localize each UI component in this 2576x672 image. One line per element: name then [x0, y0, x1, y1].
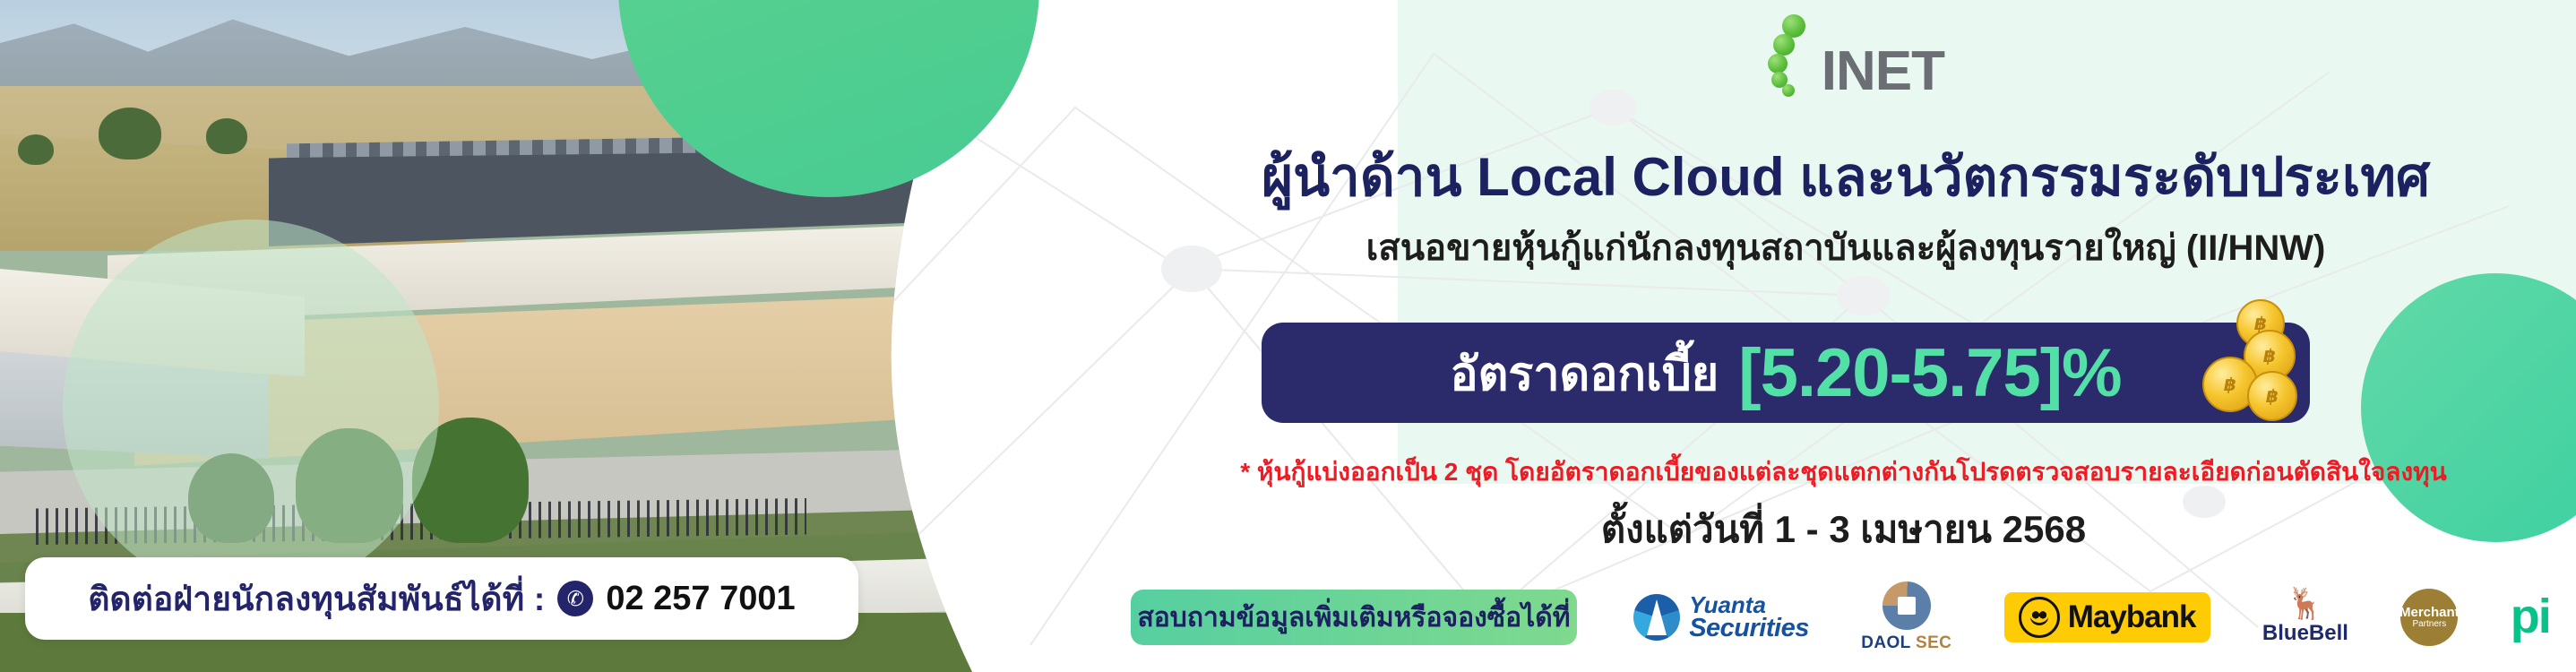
daol-line2: SEC	[1916, 633, 1951, 652]
maybank-tiger-head-icon	[2019, 597, 2060, 638]
pi-wordmark-icon: pi	[2511, 598, 2550, 636]
inet-helix-dots-icon	[1766, 14, 1813, 97]
disclaimer-text: * หุ้นกู้แบ่งออกเป็น 2 ชุด โดยอัตราดอกเบ…	[1111, 452, 2576, 492]
page-title: ผู้นำด้าน Local Cloud และนวัตกรรมระดับปร…	[1156, 134, 2536, 220]
gold-coin-stack-icon: ฿ ฿ ฿ ฿	[2197, 299, 2305, 434]
partner-logo-pi[interactable]: pi	[2511, 598, 2550, 636]
daol-line1: DAOL	[1861, 633, 1910, 652]
interest-rate-label: อัตราดอกเบี้ย	[1450, 336, 1719, 410]
partner-logo-bluebell[interactable]: 🦌 BlueBell	[2262, 589, 2348, 646]
contact-phone-number[interactable]: 02 257 7001	[606, 580, 795, 618]
partner-logo-maybank[interactable]: Maybank	[2004, 592, 2210, 642]
merchant-line2: Partners	[2412, 620, 2446, 630]
bluebell-deer-icon: 🦌	[2287, 589, 2324, 619]
promo-banner: ติดต่อฝ่ายนักลงทุนสัมพันธ์ได้ที่ : ✆ 02 …	[0, 0, 2576, 672]
pale-green-circle-decoration	[63, 220, 439, 596]
content-column: INET ผู้นำด้าน Local Cloud และนวัตกรรมระ…	[1111, 0, 2576, 672]
phone-icon: ✆	[557, 581, 593, 616]
subscribe-cta-button[interactable]: สอบถามข้อมูลเพิ่มเติมหรือจองซื้อได้ที่	[1131, 590, 1577, 645]
inet-wordmark: INET	[1822, 47, 1944, 97]
interest-rate-box: อัตราดอกเบี้ย [5.20-5.75]% ฿ ฿ ฿ ฿	[1262, 323, 2310, 423]
offering-period-text: ตั้งแต่วันที่ 1 - 3 เมษายน 2568	[1111, 500, 2576, 559]
yuanta-star-circle-icon	[1633, 594, 1680, 641]
interest-rate-value: [5.20-5.75]%	[1738, 334, 2121, 412]
page-subtitle: เสนอขายหุ้นกู้แก่นักลงทุนสถาบันและผู้ลงท…	[1156, 219, 2536, 276]
maybank-wordmark: Maybank	[2068, 599, 2196, 635]
daol-circle-chart-icon	[1882, 582, 1931, 630]
contact-label: ติดต่อฝ่ายนักลงทุนสัมพันธ์ได้ที่ :	[88, 573, 545, 625]
phone-glyph: ✆	[567, 589, 584, 609]
inet-logo: INET	[1766, 14, 1944, 97]
partner-logo-yuanta[interactable]: Yuanta Securities	[1633, 594, 1809, 641]
yuanta-line2: Securities	[1689, 616, 1809, 642]
bluebell-wordmark: BlueBell	[2262, 621, 2348, 646]
merchant-line1: Merchant	[2399, 606, 2460, 620]
broker-logos: Yuanta Securities DAOL SEC Maybank	[1577, 582, 2576, 652]
investor-relations-contact-box[interactable]: ติดต่อฝ่ายนักลงทุนสัมพันธ์ได้ที่ : ✆ 02 …	[25, 557, 858, 640]
partners-row: สอบถามข้อมูลเพิ่มเติมหรือจองซื้อได้ที่ Y…	[1131, 582, 2576, 652]
partner-logo-daol[interactable]: DAOL SEC	[1861, 582, 1951, 653]
partner-logo-merchant-partners[interactable]: Merchant Partners	[2400, 589, 2458, 646]
yuanta-line1: Yuanta	[1689, 594, 1809, 616]
